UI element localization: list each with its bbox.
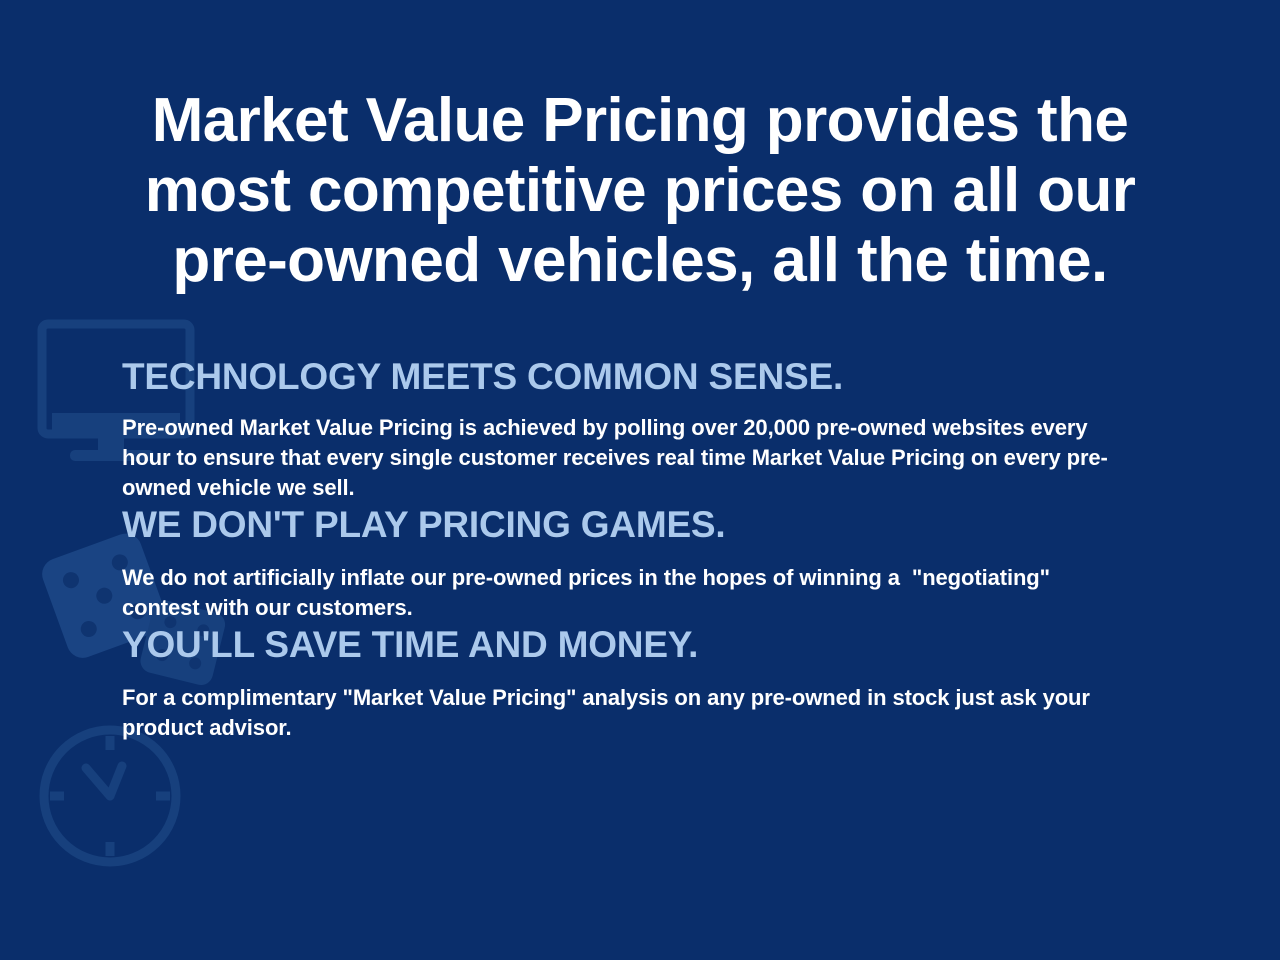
section-body-time-and-money: For a complimentary "Market Value Pricin…: [122, 683, 1110, 743]
section-title-pricing-games: WE DON'T PLAY PRICING GAMES.: [122, 503, 1110, 547]
section-body-pricing-games: We do not artificially inflate our pre-o…: [122, 563, 1110, 623]
section-technology: TECHNOLOGY MEETS COMMON SENSE. Pre-owned…: [0, 355, 1280, 503]
slide-content: Market Value Pricing provides the most c…: [0, 0, 1280, 960]
section-title-time-and-money: YOU'LL SAVE TIME AND MONEY.: [122, 623, 1110, 667]
slide-root: Market Value Pricing provides the most c…: [0, 0, 1280, 960]
section-body-technology: Pre-owned Market Value Pricing is achiev…: [122, 413, 1110, 503]
section-list: TECHNOLOGY MEETS COMMON SENSE. Pre-owned…: [0, 355, 1280, 743]
section-time-and-money: YOU'LL SAVE TIME AND MONEY. For a compli…: [0, 623, 1280, 743]
section-pricing-games: WE DON'T PLAY PRICING GAMES. We do not a…: [0, 503, 1280, 623]
section-title-technology: TECHNOLOGY MEETS COMMON SENSE.: [122, 355, 1110, 399]
page-title: Market Value Pricing provides the most c…: [85, 86, 1195, 296]
